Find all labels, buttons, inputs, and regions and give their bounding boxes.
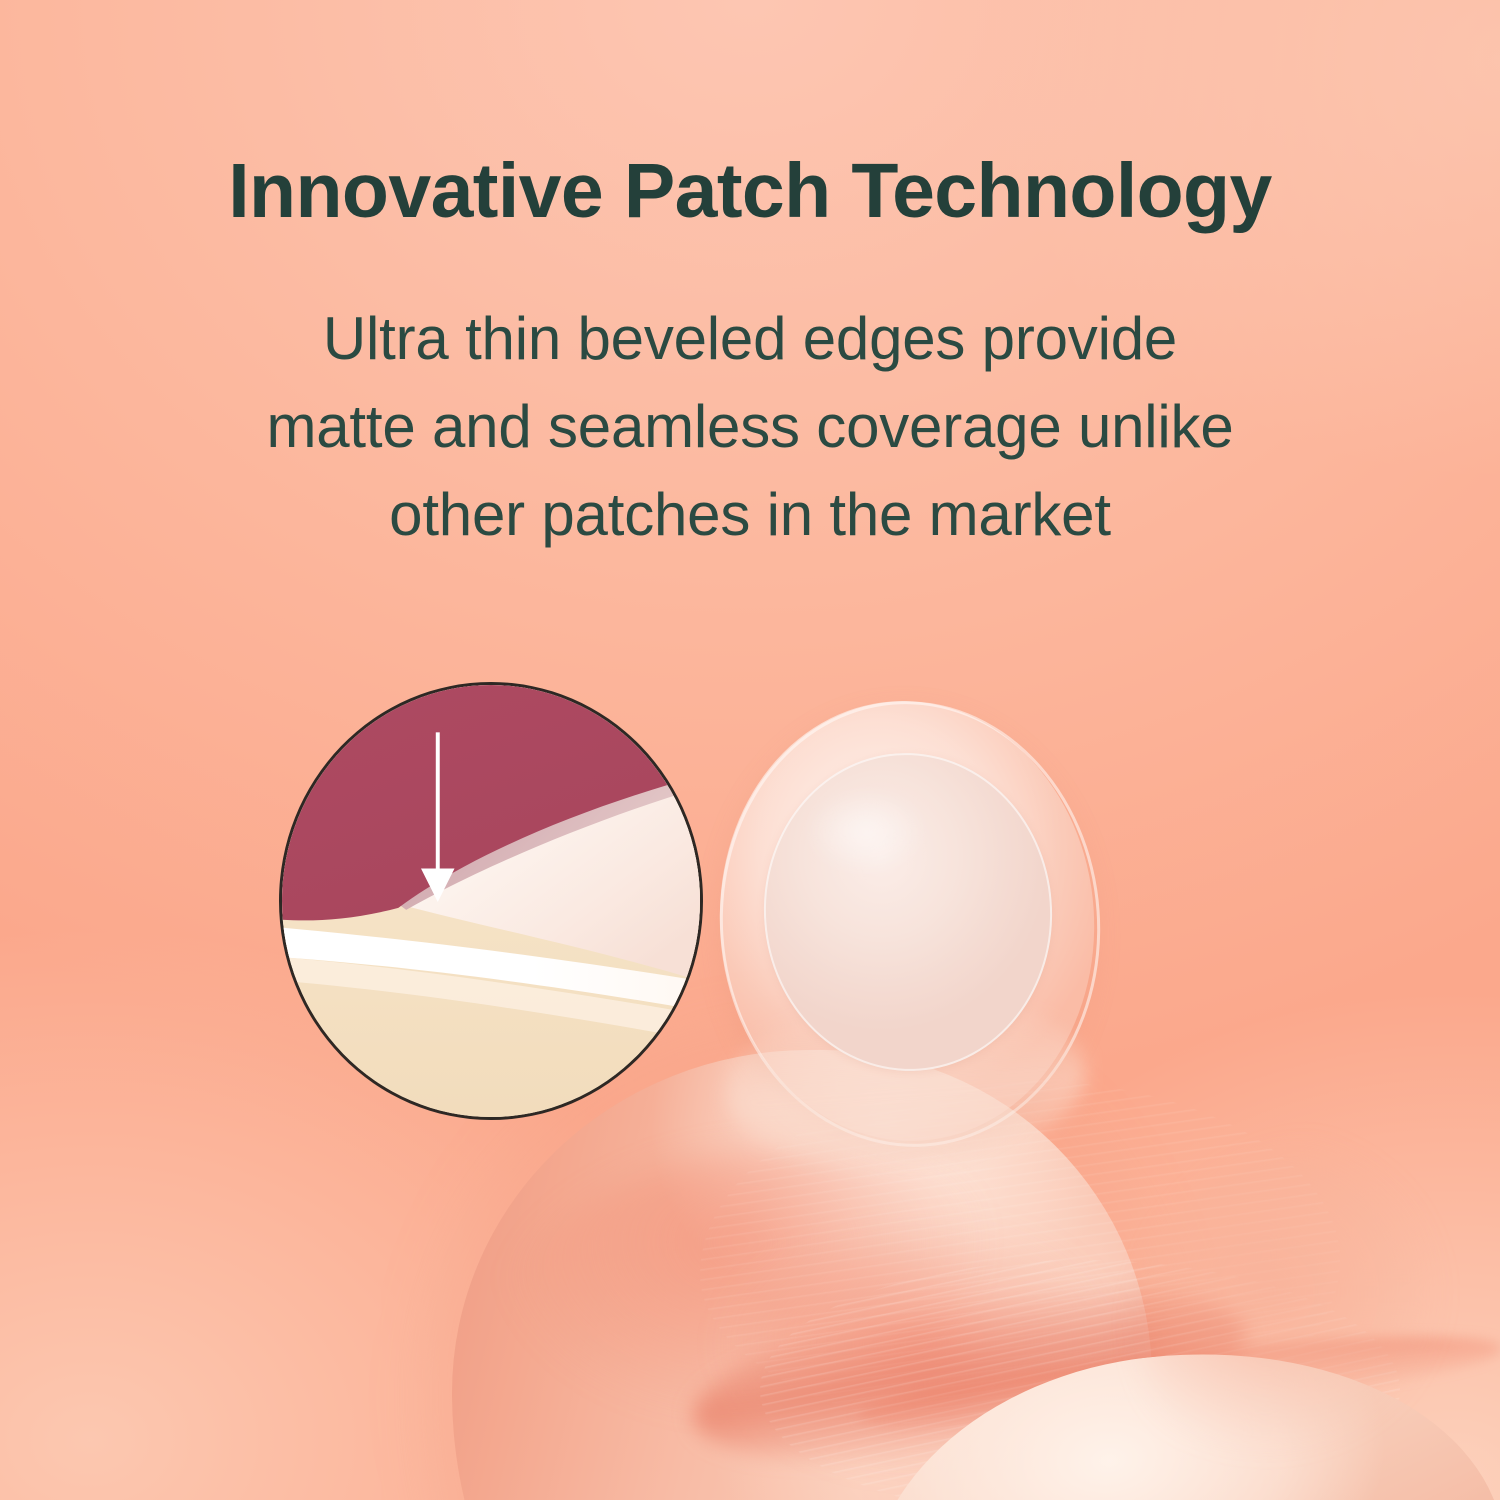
patch-lower-shading [721, 985, 1092, 1180]
finger-side-shadow [1140, 1140, 1500, 1500]
cross-section-diagram [279, 682, 703, 1120]
subheadline-line-2: matte and seamless coverage unlike [250, 383, 1250, 471]
fingertip-flush-shading [470, 1150, 1090, 1500]
background-glow-bottom-left [0, 0, 1500, 1500]
cross-section-illustration [282, 685, 700, 1117]
product-feature-banner: Innovative Patch Technology Ultra thin b… [0, 0, 1500, 1500]
fingertip-warm-shading [700, 1230, 1220, 1500]
product-photo [0, 0, 1500, 1500]
patch-specular-highlight [798, 789, 968, 909]
background-gradient [0, 0, 1500, 1500]
acne-patch [712, 697, 1102, 1167]
skin-texture-upper [700, 1080, 1340, 1440]
second-finger-edge-shadow [855, 1318, 1500, 1445]
subheadline: Ultra thin beveled edges provide matte a… [250, 295, 1250, 559]
subheadline-line-1: Ultra thin beveled edges provide [250, 295, 1250, 383]
finger-knuckle-crease [682, 1257, 1259, 1493]
skin-texture-lower [760, 1260, 1400, 1500]
arrow-shaft [436, 732, 440, 875]
page-title: Innovative Patch Technology [0, 145, 1500, 237]
background-glow-top-right [0, 0, 1500, 1500]
patch-beveled-outer-ring [705, 688, 1109, 1153]
patch-outer-rim-highlight [705, 688, 1115, 1159]
second-finger [845, 1322, 1500, 1500]
patch-inner-disc [753, 743, 1062, 1080]
background-glow-bottom-right [0, 0, 1500, 1500]
subheadline-line-3: other patches in the market [250, 471, 1250, 559]
fingertip [452, 1050, 1152, 1500]
